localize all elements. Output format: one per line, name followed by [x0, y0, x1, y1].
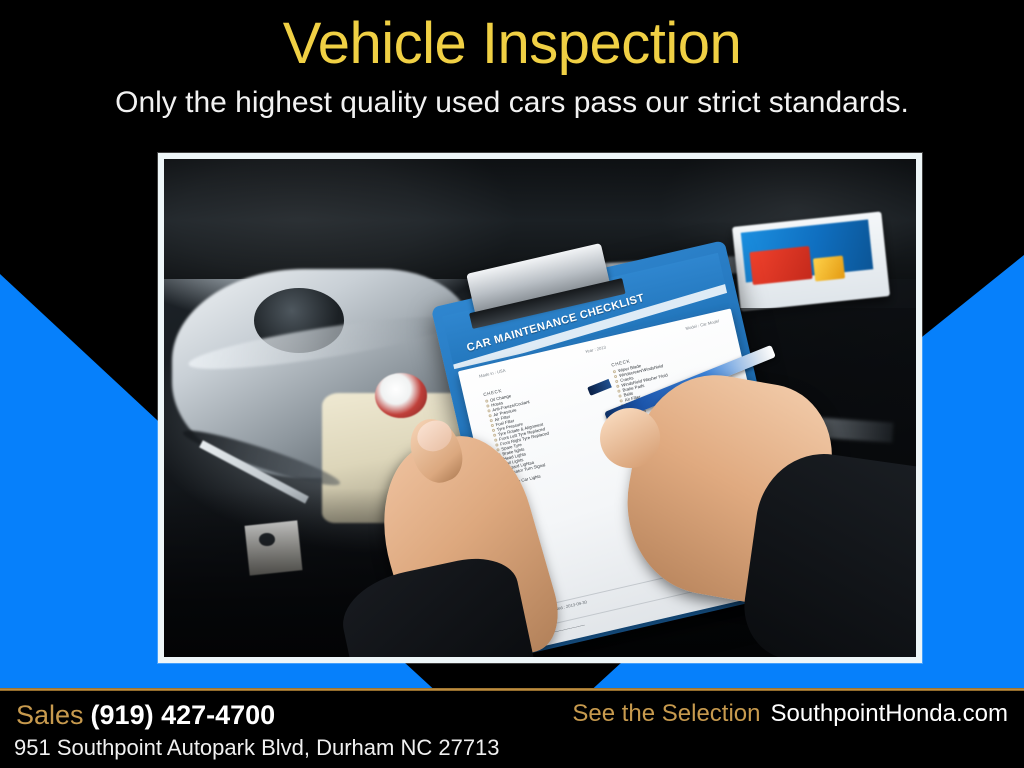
- checkbox-circle-icon: [490, 423, 494, 427]
- blue-wedge-left: [0, 262, 160, 664]
- checkbox-circle-icon: [493, 433, 497, 437]
- checklist-meta-model: Model : Car Model: [685, 318, 719, 331]
- page-subtitle: Only the highest quality used cars pass …: [0, 86, 1024, 120]
- cta-line: See the SelectionSouthpointHonda.com: [572, 700, 1008, 728]
- checkbox-circle-icon: [486, 404, 490, 408]
- checkbox-circle-icon: [616, 384, 620, 388]
- checkbox-circle-icon: [487, 408, 491, 412]
- checkbox-circle-icon: [617, 389, 621, 393]
- blue-wedge-right: [912, 255, 1024, 664]
- checkbox-circle-icon: [618, 394, 622, 398]
- inspection-photo: CAR MAINTENANCE CHECKLIST Made in : USA …: [164, 159, 916, 657]
- footer: Sales(919) 427-4700 951 Southpoint Autop…: [0, 691, 1024, 768]
- sales-label: Sales: [16, 700, 84, 730]
- checkbox-circle-icon: [620, 398, 624, 402]
- checkbox-circle-icon: [491, 428, 495, 432]
- website-link[interactable]: SouthpointHonda.com: [771, 700, 1009, 727]
- sales-phone-number[interactable]: (919) 427-4700: [91, 700, 276, 730]
- checkbox-circle-icon: [495, 443, 499, 447]
- checkbox-circle-icon: [485, 399, 489, 403]
- checkbox-circle-icon: [613, 369, 617, 373]
- slide-canvas: Vehicle Inspection Only the highest qual…: [0, 0, 1024, 768]
- checkbox-circle-icon: [494, 438, 498, 442]
- checklist-meta-made: Made in : USA: [479, 368, 506, 379]
- checkbox-circle-icon: [615, 379, 619, 383]
- page-title: Vehicle Inspection: [0, 14, 1024, 75]
- checkbox-circle-icon: [488, 413, 492, 417]
- battery-label-red: [749, 246, 812, 285]
- checkbox-circle-icon: [489, 418, 493, 422]
- red-fluid-cap: [375, 373, 428, 418]
- photo-frame: CAR MAINTENANCE CHECKLIST Made in : USA …: [158, 153, 922, 663]
- checklist-meta-year: Year : 2013: [585, 344, 607, 354]
- cta-label: See the Selection: [572, 700, 760, 727]
- sales-contact-line: Sales(919) 427-4700: [16, 700, 275, 731]
- dealership-address: 951 Southpoint Autopark Blvd, Durham NC …: [14, 735, 500, 761]
- checkbox-circle-icon: [614, 374, 618, 378]
- footer-band-notch: [404, 662, 622, 688]
- battery-label-yellow: [813, 255, 845, 281]
